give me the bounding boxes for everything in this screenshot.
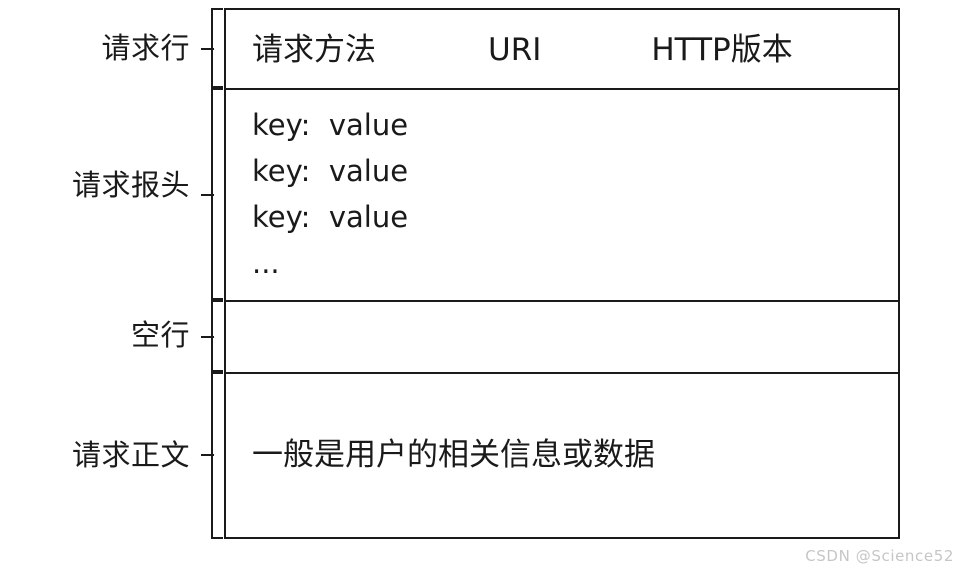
cell-request-headers: key: value key: value key: value ... xyxy=(252,102,672,286)
cell-blank-line xyxy=(226,300,898,372)
divider-after-blank-line xyxy=(226,372,898,374)
bracket-tick-blank-line xyxy=(201,336,214,338)
row-label-request-body: 请求正文 xyxy=(72,441,190,470)
cell-request-body: 一般是用户的相关信息或数据 xyxy=(252,440,852,471)
header-line-ellipsis: ... xyxy=(252,240,672,286)
bracket-request-body xyxy=(211,372,223,539)
field-http-version: HTTP版本 xyxy=(651,35,792,66)
bracket-blank-line xyxy=(211,300,223,372)
cell-request-line: 请求方法 URI HTTP版本 xyxy=(226,10,898,90)
watermark: CSDN @Science52 xyxy=(805,547,954,565)
header-line: key: value xyxy=(252,102,672,148)
header-line: key: value xyxy=(252,194,672,240)
row-label-request-line: 请求行 xyxy=(101,34,190,63)
row-label-blank-line: 空行 xyxy=(131,321,190,350)
request-format-box: 请求方法 URI HTTP版本 key: value key: value ke… xyxy=(224,8,900,539)
body-text-line: 一般是用户的相关信息或数据 xyxy=(252,440,852,471)
field-uri: URI xyxy=(488,35,541,66)
bracket-request-line xyxy=(211,8,223,88)
field-request-method: 请求方法 xyxy=(252,35,376,66)
bracket-tick-request-line xyxy=(201,48,214,50)
bracket-tick-request-headers xyxy=(201,194,214,196)
row-label-request-headers: 请求报头 xyxy=(72,171,190,200)
header-line: key: value xyxy=(252,148,672,194)
bracket-tick-request-body xyxy=(201,454,214,456)
http-request-format-diagram: 请求行 请求报头 空行 请求正文 请求方法 URI HTTP版本 key: va… xyxy=(0,0,964,573)
bracket-request-headers xyxy=(211,88,223,300)
